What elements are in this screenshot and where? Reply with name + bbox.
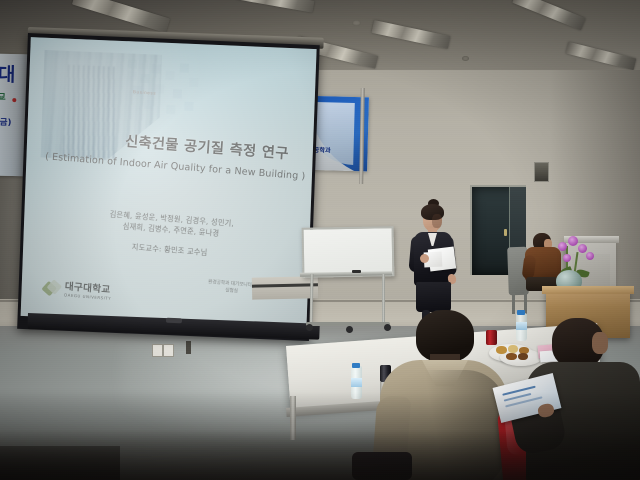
floor-foreground-shadow (0, 430, 640, 480)
whiteboard-caster (346, 326, 353, 333)
presenter-hand (420, 254, 429, 263)
university-logo: 대구대학교 DAEGU UNIVERSITY (43, 280, 112, 302)
chair-leg (512, 292, 515, 314)
sprinkler-head (352, 20, 361, 26)
orchid-flower (578, 244, 587, 253)
door-handle-icon (504, 229, 507, 236)
slide-author-list: 김은혜, 윤성운, 박정원, 김경우, 성민기, 심재희, 김병수, 주연준, … (45, 204, 297, 265)
wall-sign (534, 162, 549, 182)
slide-background-photo-detail (62, 65, 117, 159)
orchid-flower (563, 254, 571, 262)
whiteboard-marker (352, 270, 361, 273)
cabinet-slot (252, 283, 318, 287)
wall-outlet (163, 344, 174, 357)
presenter-skirt (416, 282, 451, 312)
bottle-cap (352, 363, 360, 368)
screen-pull-handle (166, 318, 182, 324)
bottle-cap (517, 310, 525, 315)
bottle-label (351, 378, 362, 387)
sprinkler-head (462, 56, 469, 61)
whiteboard (302, 226, 395, 278)
logo-diamond-icon (43, 280, 61, 298)
photo-scene: 대 교 (금) 발표회 표회 대구대학교 환경공학과 (0, 0, 640, 480)
whiteboard-caster (306, 324, 313, 331)
logo-text-block: 대구대학교 DAEGU UNIVERSITY (64, 282, 112, 300)
orchid-flower (568, 236, 578, 246)
wall-outlet (152, 344, 163, 357)
logo-english-name: DAEGU UNIVERSITY (64, 293, 111, 301)
orchid-flower (558, 242, 567, 251)
orchid-flower (586, 252, 594, 260)
wall-jack (186, 341, 191, 354)
side-cabinet (252, 276, 318, 299)
wooden-side-table-top (542, 286, 634, 294)
reader-face (592, 332, 608, 354)
presenter-face (432, 214, 442, 228)
